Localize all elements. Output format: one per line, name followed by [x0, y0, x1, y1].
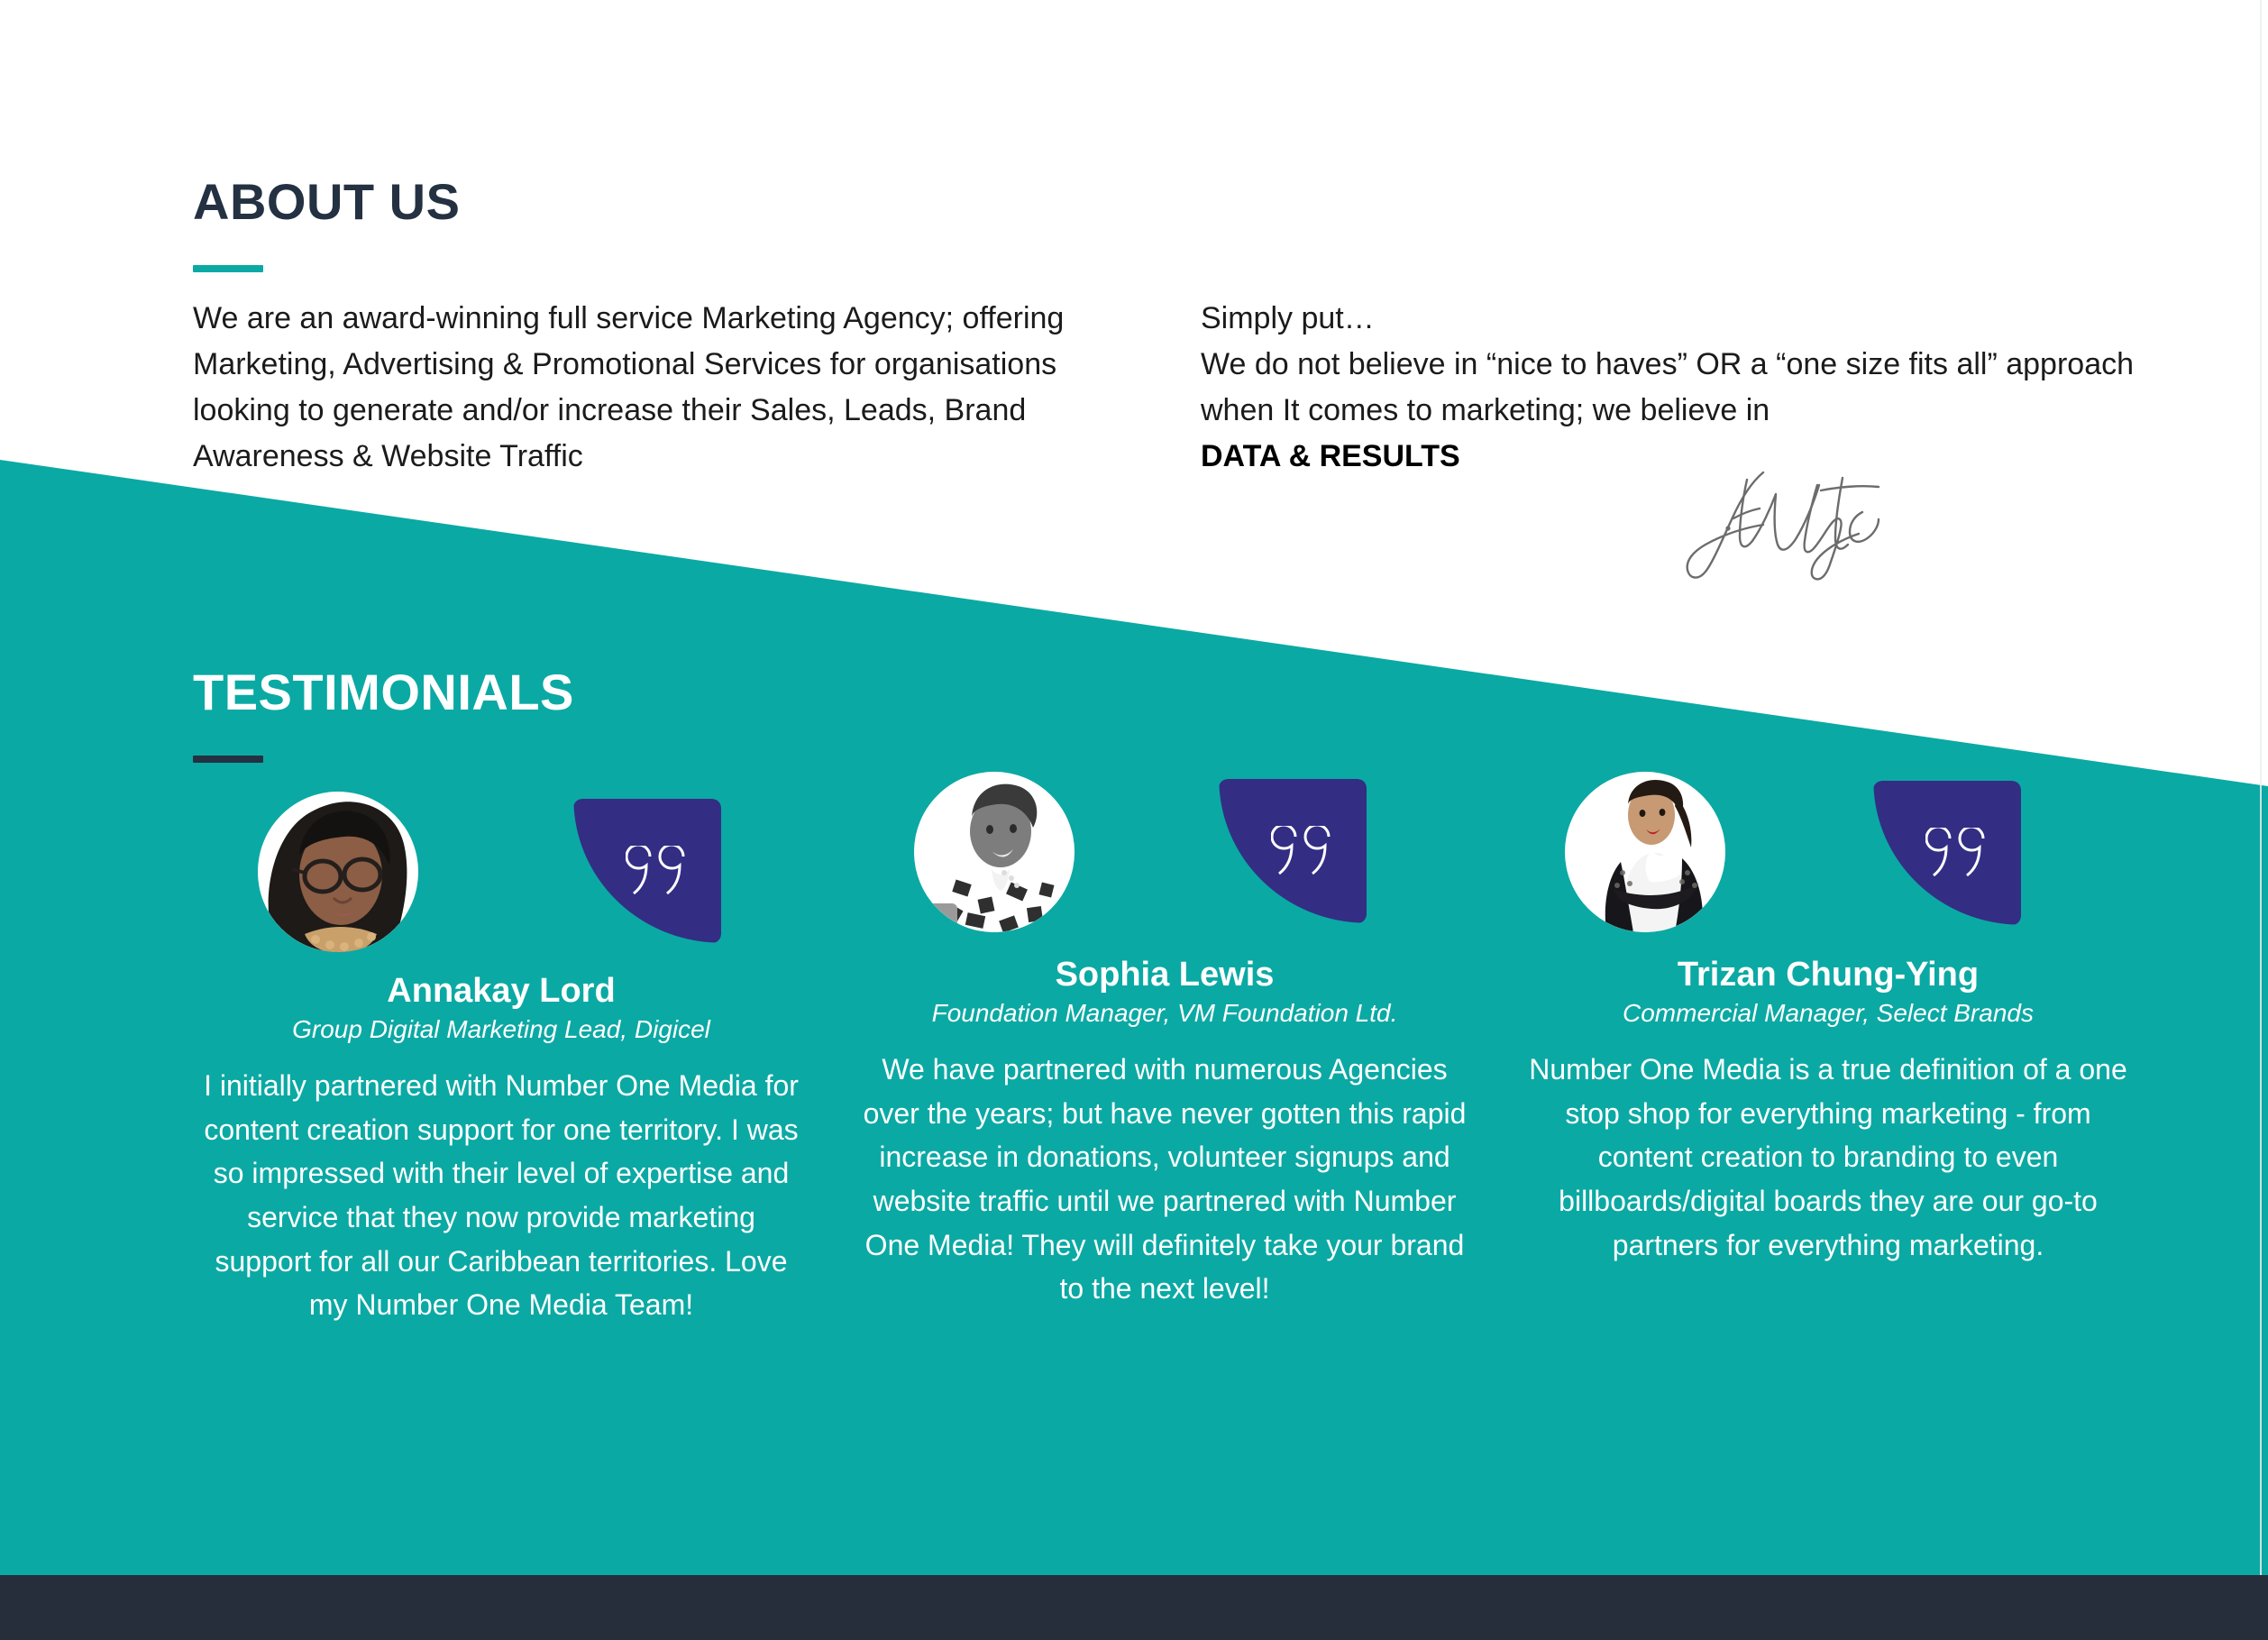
testimonial-card: Annakay Lord Group Digital Marketing Lea… — [169, 792, 833, 1327]
testimonials-title-underline — [193, 756, 263, 763]
testimonial-role: Commercial Manager, Select Brands — [1496, 998, 2160, 1029]
about-left-paragraph: We are an award-winning full service Mar… — [193, 296, 1121, 480]
testimonial-card-media — [833, 792, 1496, 965]
right-edge-hairline — [2260, 0, 2262, 1575]
testimonial-quote: I initially partnered with Number One Me… — [204, 1064, 799, 1327]
testimonials-section-header: TESTIMONIALS — [193, 667, 1275, 763]
testimonial-card-media — [1496, 792, 2160, 965]
signature-j-whyte — [1677, 462, 1947, 588]
testimonial-card-media — [169, 792, 833, 965]
testimonial-role: Foundation Manager, VM Foundation Ltd. — [833, 998, 1496, 1029]
avatar — [1565, 772, 1725, 932]
about-right-line-2: We do not believe in “nice to haves” OR … — [1201, 342, 2156, 434]
about-title: ABOUT US — [193, 177, 2131, 227]
testimonials-title: TESTIMONIALS — [193, 667, 1275, 718]
testimonial-role: Group Digital Marketing Lead, Digicel — [169, 1014, 833, 1045]
footer-bar — [0, 1575, 2268, 1640]
testimonial-card: Sophia Lewis Foundation Manager, VM Foun… — [833, 792, 1496, 1327]
quote-badge — [573, 799, 721, 943]
testimonial-quote: We have partnered with numerous Agencies… — [862, 1048, 1468, 1311]
about-title-underline — [193, 265, 263, 272]
avatar — [258, 792, 418, 952]
testimonial-name: Annakay Lord — [169, 972, 833, 1011]
testimonial-card: Trizan Chung-Ying Commercial Manager, Se… — [1496, 792, 2160, 1327]
about-right-column: Simply put… We do not believe in “nice t… — [1201, 296, 2156, 480]
about-section-header: ABOUT US — [193, 177, 2131, 272]
avatar — [914, 772, 1075, 932]
quote-badge — [1219, 779, 1367, 923]
testimonials-list: Annakay Lord Group Digital Marketing Lea… — [169, 792, 2162, 1327]
about-right-line-1: Simply put… — [1201, 296, 2156, 342]
testimonial-quote: Number One Media is a true definition of… — [1517, 1048, 2139, 1267]
quote-badge — [1873, 781, 2021, 925]
slide-canvas: ABOUT US We are an award-winning full se… — [0, 0, 2268, 1640]
data-and-results-text: DATA & RESULTS — [1201, 439, 1460, 473]
about-left-column: We are an award-winning full service Mar… — [193, 296, 1121, 480]
